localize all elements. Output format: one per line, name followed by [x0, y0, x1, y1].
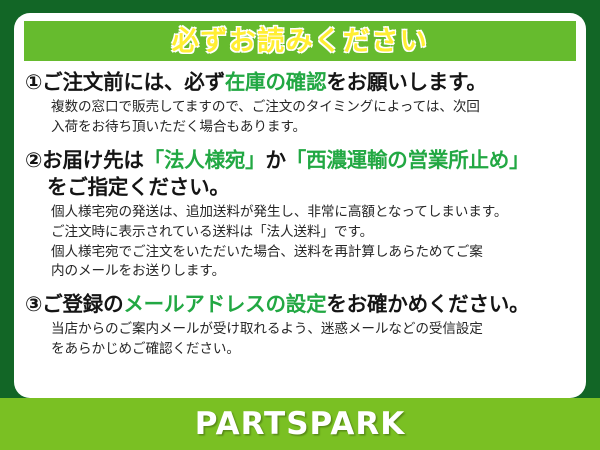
item-body-line: ご注文時に表示されている送料は「法人送料」です。	[51, 223, 574, 243]
item-heading: ①ご注文前には、必ず在庫の確認をお願いします。	[25, 69, 574, 96]
item-heading-highlight: 在庫の確認	[225, 70, 327, 94]
item-heading-highlight: 「西濃運輸の営業所止め」	[286, 148, 530, 172]
item-body-line: 入荷をお待ち頂いただく場合もあります。	[51, 118, 574, 138]
item-body: 個人様宅宛の発送は、追加送料が発生し、非常に高額となってしまいます。 ご注文時に…	[25, 203, 574, 282]
item-heading-part: ご注文前には、必ず	[42, 70, 225, 94]
notice-panel: 必ずお読みください ①ご注文前には、必ず在庫の確認をお願いします。 複数の窓口で…	[14, 13, 586, 398]
item-body-line: 内のメールをお送りします。	[51, 262, 574, 282]
item-heading-highlight: 「法人様宛」	[144, 148, 266, 172]
item-heading-part: をお願いします。	[326, 70, 486, 94]
item-body-line: 複数の窓口で販売してますので、ご注文のタイミングによっては、次回	[51, 98, 574, 118]
item-heading-part: をお確かめください。	[326, 292, 529, 316]
item-heading-part: お届け先は	[42, 148, 144, 172]
notice-items-list: ①ご注文前には、必ず在庫の確認をお願いします。 複数の窓口で販売してますので、ご…	[14, 69, 586, 361]
item-body-line: 個人様宅宛の発送は、追加送料が発生し、非常に高額となってしまいます。	[51, 203, 574, 223]
item-heading-highlight: メールアドレスの設定	[123, 292, 326, 316]
notice-banner: 必ずお読みください ①ご注文前には、必ず在庫の確認をお願いします。 複数の窓口で…	[0, 0, 600, 450]
brand-logo-text: PARTSPARK	[195, 409, 406, 440]
item-body: 当店からのご案内メールが受け取れるよう、迷惑メールなどの受信設定 をあらかじめご…	[25, 320, 574, 359]
item-heading-part: ご登録の	[42, 292, 123, 316]
item-heading-line2: をご指定ください。	[25, 174, 574, 201]
page-title: 必ずお読みください	[172, 28, 429, 55]
title-bar: 必ずお読みください	[24, 21, 576, 61]
item-body-line: 当店からのご案内メールが受け取れるよう、迷惑メールなどの受信設定	[51, 320, 574, 340]
item-heading: ③ご登録のメールアドレスの設定をお確かめください。	[25, 291, 574, 318]
item-body: 複数の窓口で販売してますので、ご注文のタイミングによっては、次回 入荷をお待ち頂…	[25, 98, 574, 137]
item-body-line: 個人様宅宛でご注文をいただいた場合、送料を再計算しあらためてご案	[51, 243, 574, 263]
item-marker: ②	[25, 148, 42, 172]
list-item: ①ご注文前には、必ず在庫の確認をお願いします。 複数の窓口で販売してますので、ご…	[25, 69, 574, 138]
footer-brand-bar: PARTSPARK	[0, 398, 600, 450]
list-item: ②お届け先は「法人様宛」か「西濃運輸の営業所止め」 をご指定ください。 個人様宅…	[25, 147, 574, 282]
item-marker: ③	[25, 292, 42, 316]
list-item: ③ご登録のメールアドレスの設定をお確かめください。 当店からのご案内メールが受け…	[25, 291, 574, 360]
item-heading: ②お届け先は「法人様宛」か「西濃運輸の営業所止め」	[25, 147, 574, 174]
item-body-line: をあらかじめご確認ください。	[51, 340, 574, 360]
item-marker: ①	[25, 70, 42, 94]
item-heading-part: か	[265, 148, 285, 172]
